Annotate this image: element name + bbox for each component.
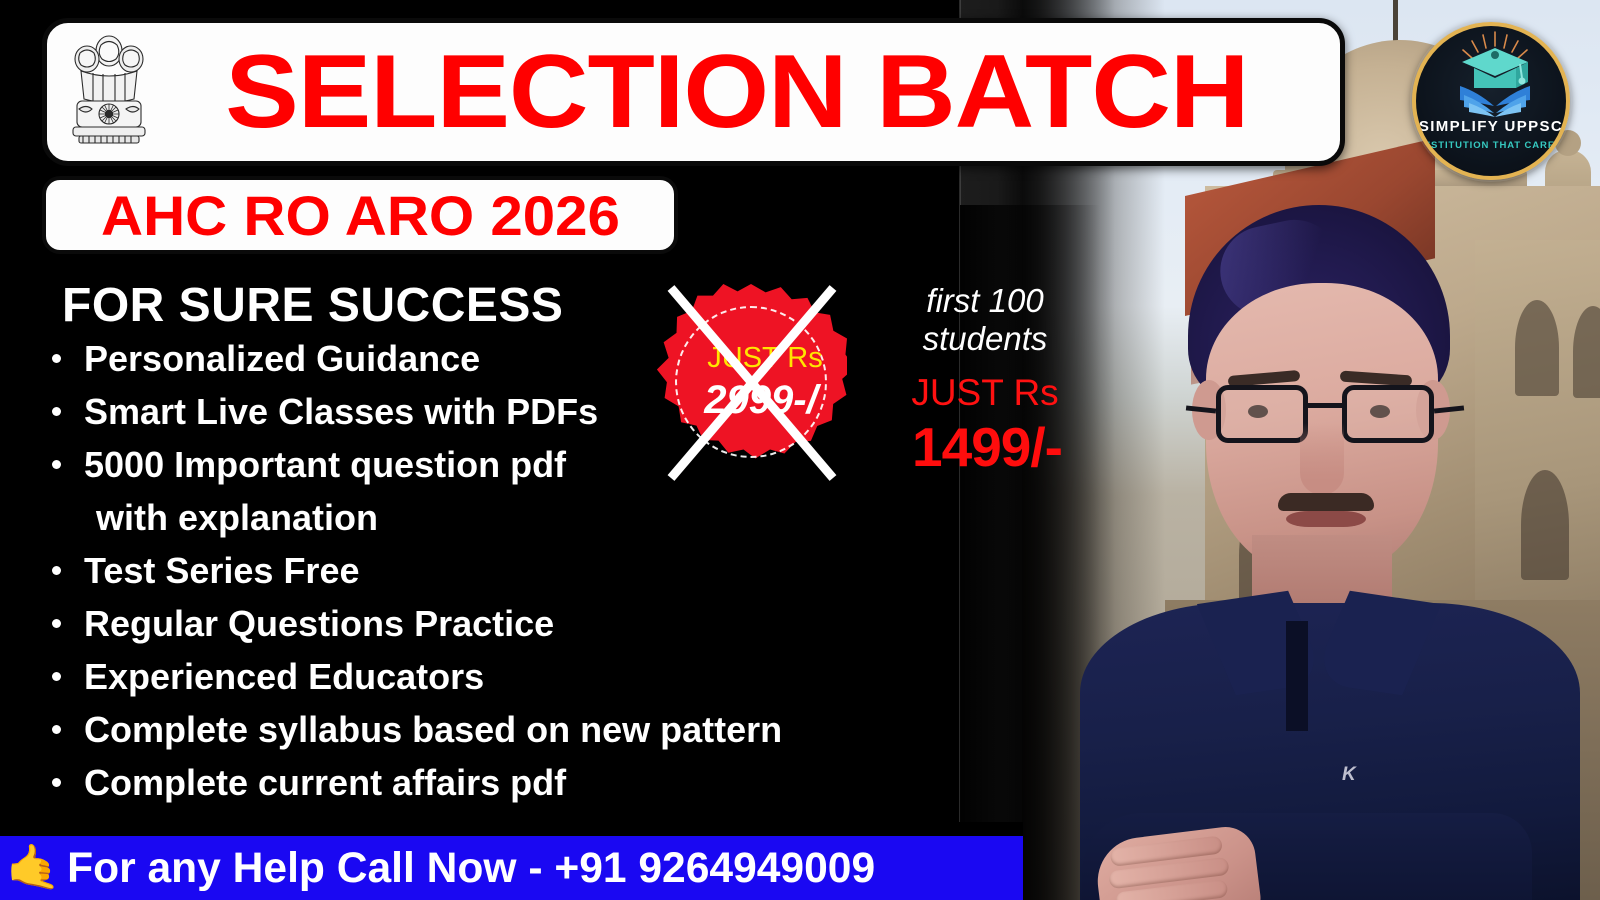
bullet-dot-icon <box>52 566 61 575</box>
offer-amount: 1499/- <box>880 415 1094 479</box>
mouth <box>1286 511 1366 527</box>
bullet-dot-icon <box>52 407 61 416</box>
bullet-dot-icon <box>52 778 61 787</box>
feature-label: 5000 Important question pdf <box>84 444 566 485</box>
mustache <box>1278 493 1374 511</box>
feature-item: with explanation <box>40 491 920 544</box>
bullet-dot-icon <box>52 672 61 681</box>
glasses-bridge <box>1308 403 1342 408</box>
logo-tagline: INSTITUTION THAT CARES <box>1416 140 1566 152</box>
feature-label: Complete syllabus based on new pattern <box>84 709 782 750</box>
shirt-placket <box>1286 621 1308 731</box>
nose <box>1300 423 1344 495</box>
promotional-poster: K <box>0 0 1600 900</box>
feature-label: Test Series Free <box>84 550 359 591</box>
bullet-dot-icon <box>52 460 61 469</box>
lens-right <box>1342 385 1434 443</box>
lens-left <box>1216 385 1308 443</box>
bullet-dot-icon <box>52 725 61 734</box>
feature-item: Test Series Free <box>40 544 920 597</box>
contact-text: For any Help Call Now - +91 9264949009 <box>67 844 875 893</box>
brand-logo-badge[interactable]: SIMPLIFY UPPSC INSTITUTION THAT CARES <box>1412 22 1570 180</box>
feature-item: Complete current affairs pdf <box>40 756 920 809</box>
headline: FOR SURE SUCCESS <box>62 278 563 333</box>
instructor-portrait: K <box>1020 205 1580 900</box>
feature-item: Complete syllabus based on new pattern <box>40 703 920 756</box>
bullet-dot-icon <box>52 619 61 628</box>
feature-label: Regular Questions Practice <box>84 603 554 644</box>
shirt-brand-mark: K <box>1342 765 1366 785</box>
contact-bar-spacer <box>0 822 1023 836</box>
title-card: SELECTION BATCH <box>42 18 1345 166</box>
feature-label: Complete current affairs pdf <box>84 762 566 803</box>
feature-item: Experienced Educators <box>40 650 920 703</box>
call-me-hand-icon: 🤙 <box>6 846 61 890</box>
old-price-amount: 2999-/ <box>665 378 857 423</box>
contact-bar[interactable]: 🤙 For any Help Call Now - +91 9264949009 <box>0 836 1023 900</box>
old-price-badge: JUST Rs 2999-/ <box>655 284 847 482</box>
bullet-dot-icon <box>52 354 61 363</box>
offer-label: JUST Rs <box>885 372 1085 414</box>
feature-label: Personalized Guidance <box>84 338 480 379</box>
logo-name: SIMPLIFY UPPSC <box>1416 118 1566 135</box>
feature-item: Regular Questions Practice <box>40 597 920 650</box>
old-price-label: JUST Rs <box>669 342 861 375</box>
exam-subtitle-card: AHC RO ARO 2026 <box>42 176 678 254</box>
feature-label: with explanation <box>96 497 378 538</box>
feature-label: Experienced Educators <box>84 656 484 697</box>
offer-note: first 100 students <box>885 282 1085 358</box>
feature-label: Smart Live Classes with PDFs <box>84 391 598 432</box>
page-title: SELECTION BATCH <box>122 40 1345 144</box>
exam-subtitle: AHC RO ARO 2026 <box>101 183 620 248</box>
